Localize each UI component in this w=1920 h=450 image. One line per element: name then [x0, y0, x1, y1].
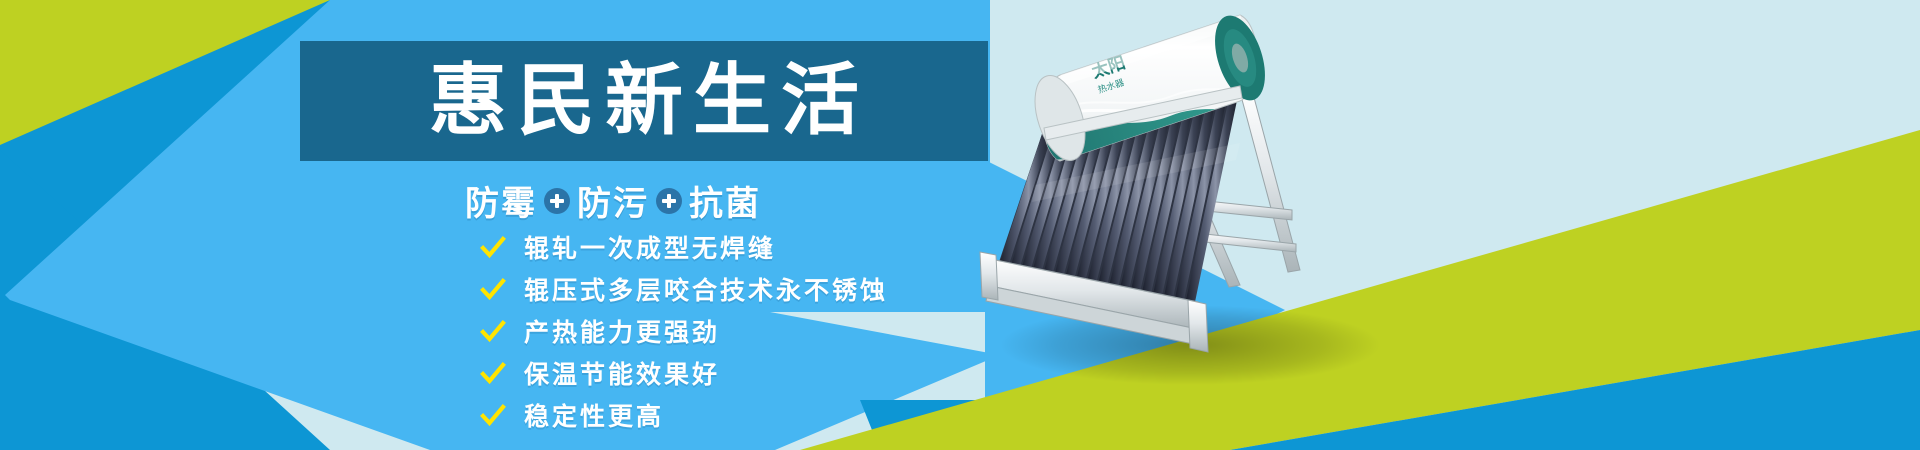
list-item: 保温节能效果好 — [480, 358, 888, 390]
promo-banner: 惠民新生活 防霉 防污 抗菌 辊轧一次成型无焊缝 辊压式多层咬合技术永不锈蚀 — [0, 0, 1920, 450]
check-icon — [480, 235, 506, 261]
feature-label: 保温节能效果好 — [524, 362, 720, 387]
list-item: 辊轧一次成型无焊缝 — [480, 232, 888, 264]
feature-label: 辊压式多层咬合技术永不锈蚀 — [524, 278, 888, 303]
check-icon — [480, 319, 506, 345]
check-icon — [480, 361, 506, 387]
feature-label: 辊轧一次成型无焊缝 — [524, 236, 776, 261]
subtitle-part-2: 防污 — [577, 176, 649, 225]
page-title: 惠民新生活 — [419, 62, 869, 140]
plus-icon — [656, 188, 682, 214]
subtitle: 防霉 防污 抗菌 — [465, 176, 761, 225]
solar-water-heater-image: 太阳 热水器 — [940, 0, 1500, 450]
list-item: 产热能力更强劲 — [480, 316, 888, 348]
check-icon — [480, 277, 506, 303]
subtitle-part-1: 防霉 — [465, 176, 537, 225]
list-item: 稳定性更高 — [480, 400, 888, 432]
check-icon — [480, 403, 506, 429]
title-box: 惠民新生活 — [300, 41, 988, 161]
list-item: 辊压式多层咬合技术永不锈蚀 — [480, 274, 888, 306]
feature-list: 辊轧一次成型无焊缝 辊压式多层咬合技术永不锈蚀 产热能力更强劲 — [480, 232, 888, 432]
solar-heater-illustration: 太阳 热水器 — [940, 0, 1500, 450]
feature-label: 产热能力更强劲 — [524, 320, 720, 345]
plus-icon — [544, 188, 570, 214]
subtitle-part-3: 抗菌 — [689, 176, 761, 225]
feature-label: 稳定性更高 — [524, 404, 664, 429]
